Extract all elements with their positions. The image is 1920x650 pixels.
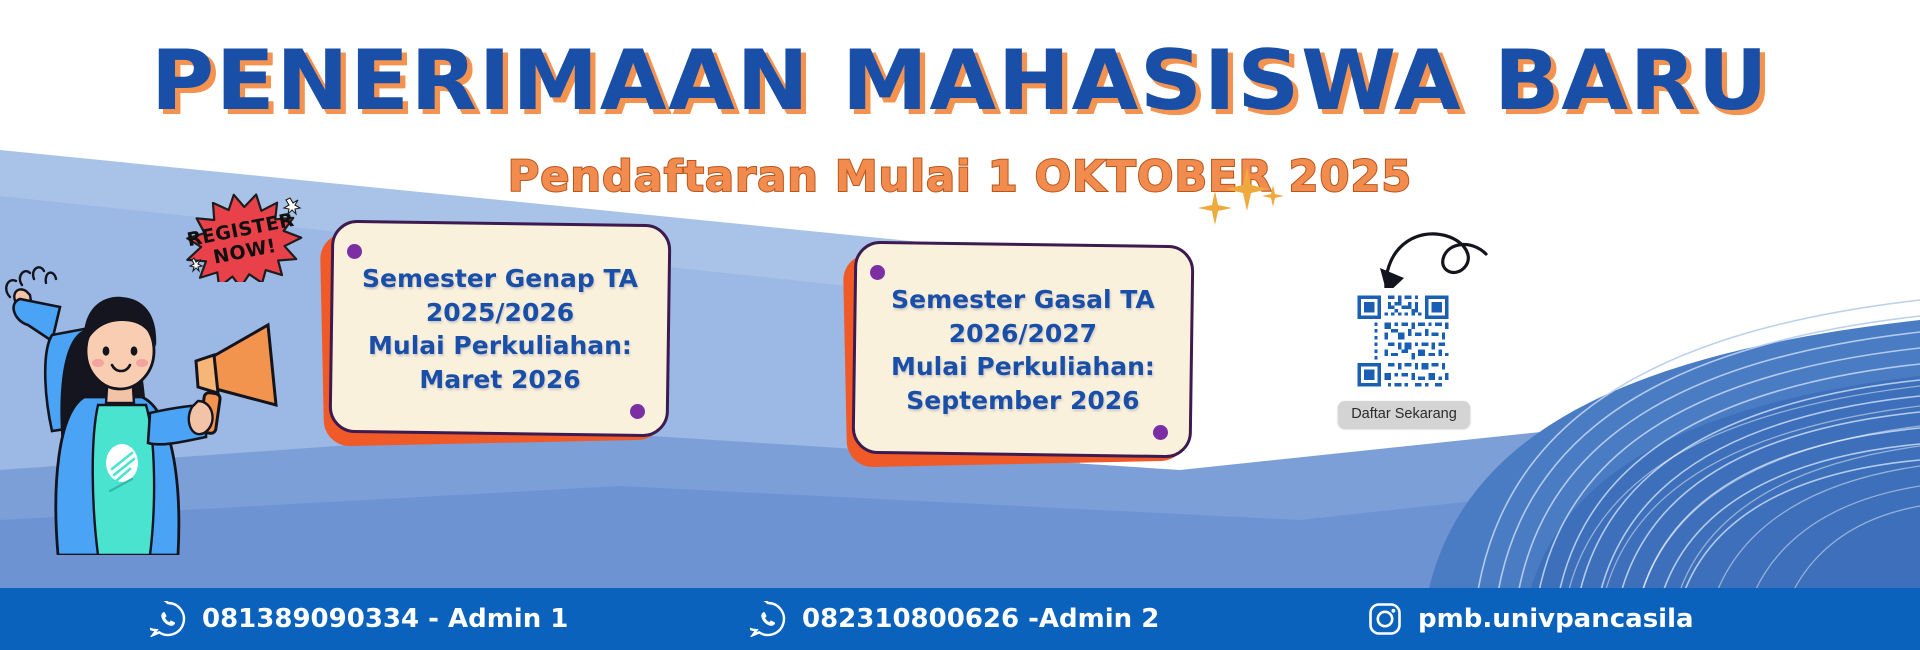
contact-bar: 081389090334 - Admin 1 082310800626 -Adm…	[0, 588, 1920, 650]
sparkle-icon	[1185, 163, 1295, 235]
card-semester-gasal: Semester Gasal TA 2026/2027 Mulai Perkul…	[853, 243, 1193, 456]
card-line-1: Semester Genap TA	[362, 262, 638, 296]
card-line-2: 2026/2027	[891, 316, 1155, 350]
card-text: Semester Gasal TA 2026/2027 Mulai Perkul…	[877, 283, 1169, 417]
contact-instagram[interactable]: pmb.univpancasila	[1368, 602, 1694, 636]
contact-admin-1[interactable]: 081389090334 - Admin 1	[150, 601, 568, 637]
contact-label: pmb.univpancasila	[1418, 604, 1694, 634]
card-semester-genap: Semester Genap TA 2025/2026 Mulai Perkul…	[330, 222, 670, 435]
pmb-banner: PENERIMAAN MAHASISWA BARU Pendaftaran Mu…	[0, 0, 1920, 650]
card-line-2: 2025/2026	[362, 295, 638, 329]
contact-admin-2[interactable]: 082310800626 -Admin 2	[750, 601, 1159, 637]
card-dot-bottom-right	[630, 404, 645, 419]
page-title: PENERIMAAN MAHASISWA BARU	[151, 32, 1769, 129]
student-illustration	[0, 255, 290, 555]
card-line-3: Mulai Perkuliahan:	[891, 350, 1155, 384]
title-container: PENERIMAAN MAHASISWA BARU	[0, 32, 1920, 129]
contact-label: 081389090334 - Admin 1	[202, 604, 568, 634]
instagram-icon	[1368, 602, 1402, 636]
card-body: Semester Genap TA 2025/2026 Mulai Perkul…	[329, 220, 672, 438]
qr-code-icon[interactable]	[1350, 288, 1456, 394]
qr-registration-block[interactable]: Daftar Sekarang	[1350, 288, 1470, 428]
card-dot-top-left	[347, 244, 362, 259]
card-body: Semester Gasal TA 2026/2027 Mulai Perkul…	[852, 241, 1195, 459]
card-line-3: Mulai Perkuliahan:	[362, 329, 638, 363]
card-line-4: Maret 2026	[362, 362, 638, 396]
card-line-4: September 2026	[891, 383, 1155, 417]
card-text: Semester Genap TA 2025/2026 Mulai Perkul…	[348, 262, 652, 396]
card-dot-bottom-right	[1153, 425, 1168, 440]
whatsapp-icon	[150, 601, 186, 637]
card-line-1: Semester Gasal TA	[891, 283, 1155, 317]
whatsapp-icon	[750, 601, 786, 637]
register-now-badge: REGISTER NOW!	[178, 192, 306, 282]
card-dot-top-left	[870, 265, 885, 280]
daftar-sekarang-button[interactable]: Daftar Sekarang	[1338, 401, 1470, 428]
contact-label: 082310800626 -Admin 2	[802, 604, 1159, 634]
